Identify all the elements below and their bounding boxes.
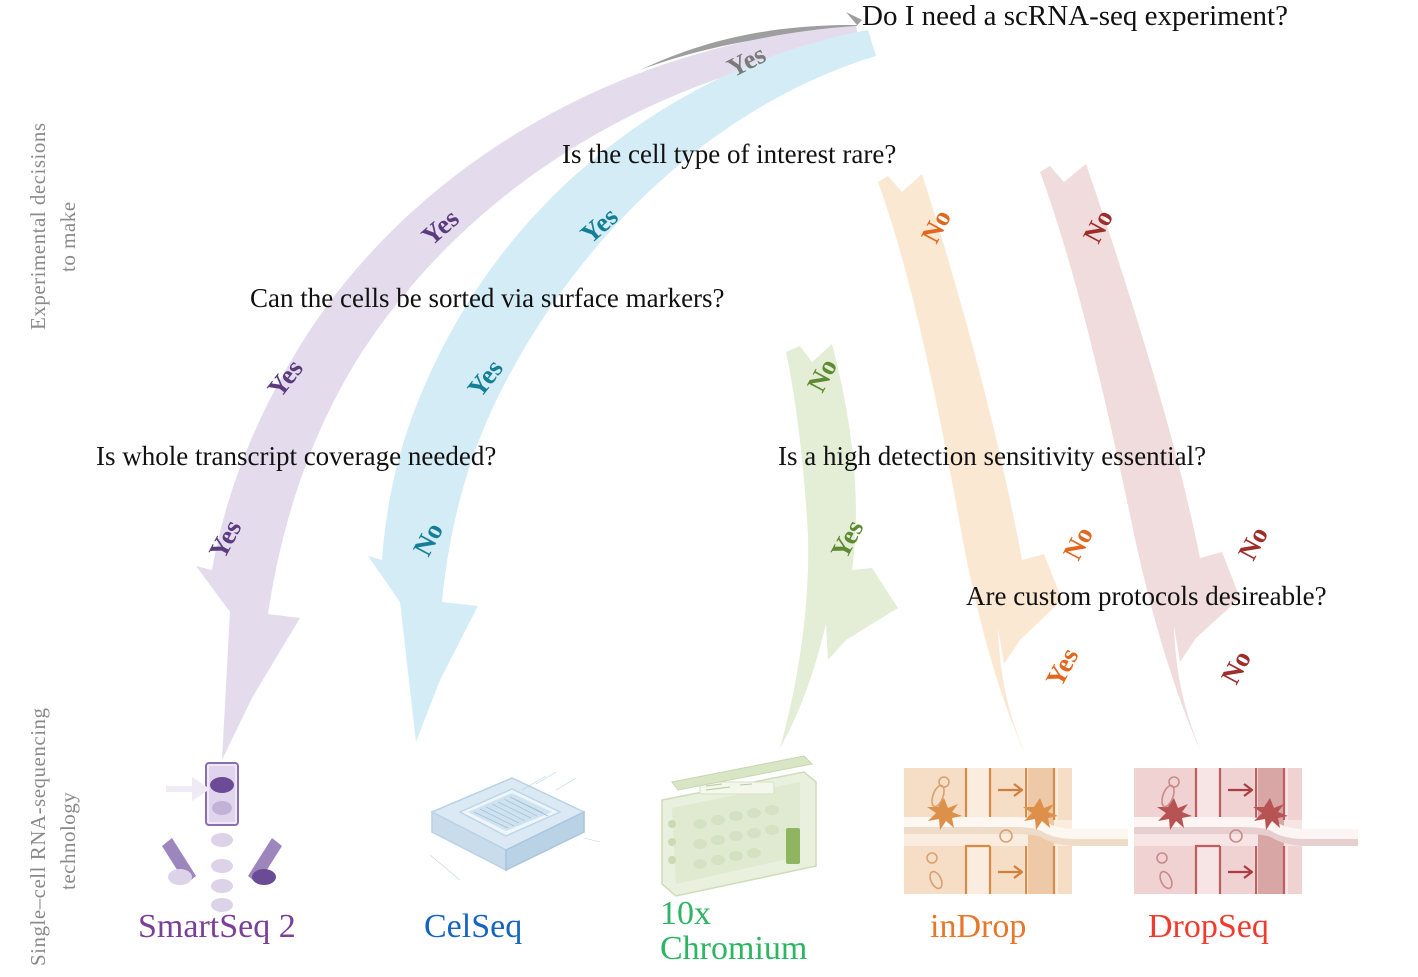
question-custom-protocols: Are custom protocols desireable?	[966, 581, 1327, 612]
question-sorted-surface-markers: Can the cells be sorted via surface mark…	[250, 283, 725, 314]
tech-label-dropseq: DropSeq	[1148, 910, 1269, 945]
tech-label-indrop: inDrop	[930, 910, 1026, 945]
facs-sorter-icon	[162, 763, 282, 912]
microwell-chip-icon	[430, 772, 600, 880]
tech-label-chromium: 10x Chromium	[660, 897, 807, 966]
droplet-microfluidics-red-icon	[1134, 768, 1358, 894]
droplet-microfluidics-orange-icon	[904, 768, 1128, 894]
axis-label-scrna-technology: Single–cell RNA-sequencing	[26, 707, 51, 966]
tech-label-chromium-line2: Chromium	[660, 932, 807, 967]
tech-label-dropseq-text: DropSeq	[1148, 910, 1269, 945]
question-root: Do I need a scRNA-seq experiment?	[862, 0, 1288, 33]
chromium-cartridge-icon	[662, 756, 816, 896]
tech-label-chromium-line1: 10x	[660, 897, 807, 932]
axis-label-experimental-decisions-line2: to make	[56, 201, 81, 272]
axis-label-experimental-decisions: Experimental decisions	[26, 122, 51, 330]
figure-canvas: Experimental decisions to make Single–ce…	[0, 0, 1418, 977]
question-rare-cell-type: Is the cell type of interest rare?	[562, 139, 896, 170]
axis-label-scrna-technology-line2: technology	[56, 792, 81, 890]
question-whole-transcript: Is whole transcript coverage needed?	[96, 441, 496, 472]
tech-label-smartseq-text: SmartSeq 2	[138, 910, 296, 945]
question-detection-sensitivity: Is a high detection sensitivity essentia…	[778, 441, 1206, 472]
tech-label-indrop-text: inDrop	[930, 910, 1026, 945]
tech-label-celseq-text: CelSeq	[424, 910, 522, 945]
tech-label-celseq: CelSeq	[424, 910, 522, 945]
tech-label-smartseq: SmartSeq 2	[138, 910, 296, 945]
